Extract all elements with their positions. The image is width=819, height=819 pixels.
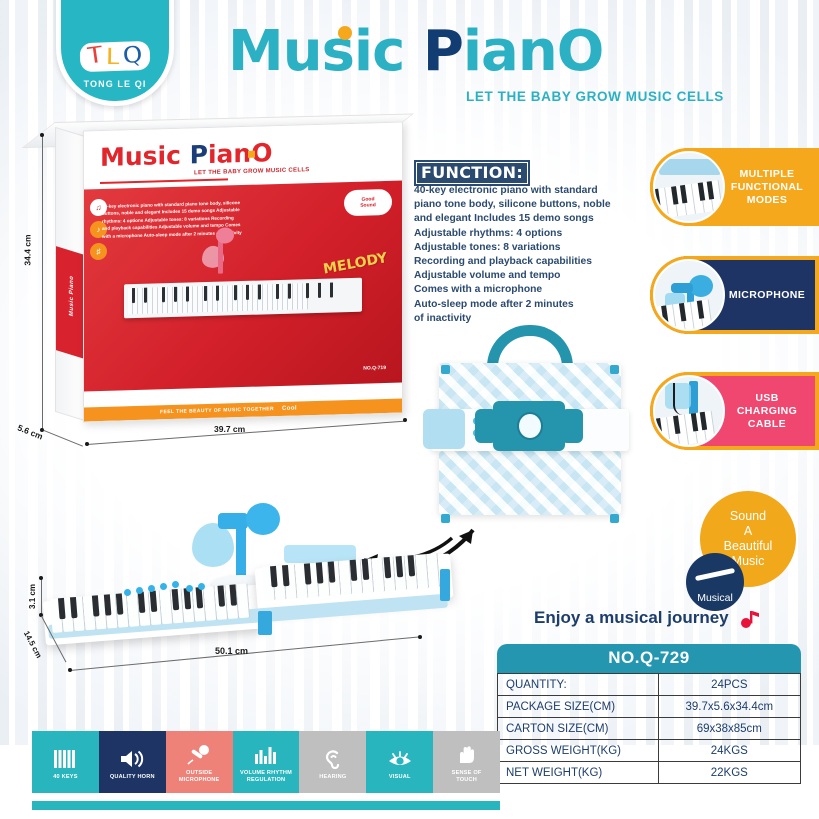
usb-cable-icon [653, 375, 725, 447]
spec-table-grid: QUANTITY: 24PCS PACKAGE SIZE(CM) 39.7x5.… [497, 673, 801, 784]
box-title: Music PianO [100, 140, 273, 171]
microphone-icon [653, 259, 725, 331]
keys-shape [655, 299, 713, 331]
spec-label: PACKAGE SIZE(CM) [498, 696, 659, 718]
table-row: CARTON SIZE(CM) 69x38x85cm [498, 718, 801, 740]
case-corner [610, 365, 619, 374]
feature-badge-usb-cable: USB CHARGING CABLE [650, 372, 819, 450]
box-title-ian: ian [208, 139, 251, 169]
strip-label-outside-microphone: OUTSIDE MICROPHONE [179, 770, 220, 784]
piano-dim-width-dot-right [418, 635, 422, 639]
control-button [186, 585, 193, 592]
spec-value: 39.7x5.6x34.4cm [658, 696, 800, 718]
speaker-icon [119, 748, 145, 770]
box-front-face: Music PianO LET THE BABY GROW MUSIC CELL… [83, 122, 403, 423]
box-dim-width-dot-right [403, 418, 407, 422]
equalizer-icon [253, 744, 279, 766]
piano-dim-height-label: 3.1 cm [28, 584, 37, 609]
mic-head-shape [246, 503, 280, 535]
case-handle [487, 325, 573, 367]
box-dim-width-label: 39.7 cm [214, 424, 245, 434]
spec-label: CARTON SIZE(CM) [498, 718, 659, 740]
feature-badge-microphone: MICROPHONE [650, 256, 819, 334]
strip-label-hearing: HEARING [319, 774, 346, 781]
strip-label-volume-rhythm: VOLUME RHYTHM REGULATION [240, 770, 292, 784]
control-button [124, 589, 131, 596]
heart-speaker-shape [192, 523, 234, 567]
logo-wordmark: T L Q [79, 41, 150, 72]
box-footer-text: FEEL THE BEAUTY OF MUSIC TOGETHER [160, 406, 274, 415]
box-title-music: Music [100, 140, 190, 172]
title-dot-icon [338, 26, 352, 40]
table-row: PACKAGE SIZE(CM) 39.7x5.6x34.4cm [498, 696, 801, 718]
box-title-dot-icon [248, 151, 255, 158]
control-button [148, 585, 155, 592]
page-title-ian: ian [463, 19, 557, 84]
box-dim-height-line [42, 135, 43, 430]
feature-badge-frame: MULTIPLE FUNCTIONAL MODES [650, 148, 819, 226]
spec-label: QUANTITY: [498, 674, 659, 696]
music-rack-shape [659, 159, 721, 175]
piano-keys-icon [653, 151, 725, 223]
feature-badge-frame: MICROPHONE [650, 256, 819, 334]
strip-item-sense-of-touch: SENSE OF TOUCH [433, 731, 500, 793]
strip-item-40-keys: 40 KEYS [32, 731, 99, 793]
unfolded-piano-photo [40, 495, 470, 670]
page-title-p: P [423, 19, 463, 84]
mic-pole-shape [236, 521, 246, 583]
piano-keys-icon [52, 748, 78, 770]
logo-subtitle: TONG LE QI [84, 79, 147, 89]
piano-dim-width-label: 50.1 cm [215, 646, 248, 656]
sound-badge-navy: Musical [686, 553, 744, 611]
control-button [160, 583, 167, 590]
box-dim-width-dot-left [85, 442, 89, 446]
poster-root: T L Q TONG LE QI Music PianO LET THE BAB… [0, 0, 819, 819]
microphone-icon [186, 744, 212, 766]
function-line: Adjustable tones: 8 variations [414, 241, 642, 255]
mic-arm-shape [671, 283, 693, 293]
keys-shape [653, 411, 716, 447]
keys-shape [653, 180, 723, 220]
function-line: of inactivity [414, 312, 642, 326]
control-button [172, 581, 179, 588]
box-mic-head [216, 227, 234, 244]
strip-label-sense-of-touch: SENSE OF TOUCH [452, 770, 482, 784]
piano-dim-width-dot-left [68, 668, 72, 672]
feature-icon-strip: 40 KEYS QUALITY HORN OUTSIDE MICROPH [32, 731, 500, 793]
music-note-icon [740, 610, 760, 628]
page-title-o: O [557, 19, 604, 84]
box-footer-tag: Cool [282, 405, 297, 411]
box-spine-face: Music Piano [55, 127, 85, 421]
control-button [198, 583, 205, 590]
table-row: NET WEIGHT(KG) 22KGS [498, 762, 801, 784]
feature-label-multiple-modes: MULTIPLE FUNCTIONAL MODES [725, 168, 819, 207]
feature-badge-frame: USB CHARGING CABLE [650, 372, 819, 450]
eye-icon [387, 748, 413, 770]
function-line: Recording and playback capabilities [414, 255, 642, 269]
box-dim-height-label: 34.4 cm [23, 234, 33, 265]
spec-table: NO.Q-729 QUANTITY: 24PCS PACKAGE SIZE(CM… [497, 644, 801, 784]
feature-badge-multiple-modes: MULTIPLE FUNCTIONAL MODES [650, 148, 819, 226]
spec-label: GROSS WEIGHT(KG) [498, 740, 659, 762]
heart-pendant-icon [423, 409, 465, 449]
function-line: Adjustable volume and tempo [414, 269, 642, 283]
box-body-panel: ♫ ♪ ♯ 40-key electronic piano with stand… [84, 181, 402, 392]
strip-item-visual: VISUAL [366, 731, 433, 793]
logo-letter-t: T [85, 44, 105, 68]
box-spine-title: Music Piano [69, 261, 75, 331]
package-box-photo: Music Piano Music PianO LET THE BABY GRO… [55, 122, 415, 422]
strip-label-quality-horn: QUALITY HORN [110, 774, 155, 781]
function-line: Auto-sleep mode after 2 minutes [414, 298, 642, 312]
page-title-music: Music [228, 19, 423, 84]
case-corner [610, 514, 619, 523]
logo-letter-q: Q [121, 44, 144, 68]
function-line: 40-key electronic piano with standard [414, 184, 642, 198]
box-model-no: NO.Q-719 [363, 365, 386, 372]
mic-arm-shape [218, 513, 248, 529]
page-subtitle: LET THE BABY GROW MUSIC CELLS [466, 89, 724, 104]
strip-item-outside-microphone: OUTSIDE MICROPHONE [166, 731, 233, 793]
logo-letter-l: L [105, 46, 121, 68]
strip-label-40-keys: 40 KEYS [53, 774, 77, 781]
function-line: Adjustable rhythms: 4 options [414, 227, 642, 241]
spec-table-model: NO.Q-729 [497, 644, 801, 673]
spec-value: 22KGS [658, 762, 800, 784]
feature-label-usb-cable: USB CHARGING CABLE [725, 392, 819, 431]
table-row: GROSS WEIGHT(KG) 24KGS [498, 740, 801, 762]
spec-value: 24PCS [658, 674, 800, 696]
enjoy-tagline: Enjoy a musical journey [534, 608, 729, 628]
strip-item-hearing: HEARING [299, 731, 366, 793]
cable-shape [673, 383, 687, 415]
hand-icon [454, 744, 480, 766]
box-piano-artwork [84, 181, 402, 392]
function-list: 40-key electronic piano with standard pi… [414, 184, 642, 326]
spec-value: 24KGS [658, 740, 800, 762]
piano-dim-height-line [41, 578, 42, 616]
strip-item-quality-horn: QUALITY HORN [99, 731, 166, 793]
function-line: piano tone body, silicone buttons, noble [414, 198, 642, 212]
function-line: and elegant Includes 15 demo songs [414, 212, 642, 226]
case-corner [441, 365, 450, 374]
feature-label-microphone: MICROPHONE [725, 289, 819, 302]
box-dim-height-dot-top [40, 133, 44, 137]
case-bow-ornament [493, 401, 565, 451]
page-title: Music PianO [228, 22, 603, 82]
musical-badge-text: Musical [697, 592, 733, 604]
table-row: QUANTITY: 24PCS [498, 674, 801, 696]
strip-item-volume-rhythm: VOLUME RHYTHM REGULATION [233, 731, 300, 793]
ear-icon [320, 748, 346, 770]
piano-end-cap [440, 569, 450, 601]
box-footer: FEEL THE BEAUTY OF MUSIC TOGETHER Cool [84, 399, 402, 422]
spec-value: 69x38x85cm [658, 718, 800, 740]
strip-label-visual: VISUAL [389, 774, 411, 781]
case-seal-icon [517, 412, 543, 440]
box-title-p: P [190, 140, 208, 170]
piano-hinge [258, 611, 272, 635]
bottom-teal-bar [32, 801, 500, 810]
piano-dim-height-dot-top [39, 576, 43, 580]
function-heading: FUNCTION: [414, 160, 530, 186]
flute-icon [695, 568, 735, 581]
spec-label: NET WEIGHT(KG) [498, 762, 659, 784]
function-line: Comes with a microphone [414, 283, 642, 297]
control-button [136, 587, 143, 594]
